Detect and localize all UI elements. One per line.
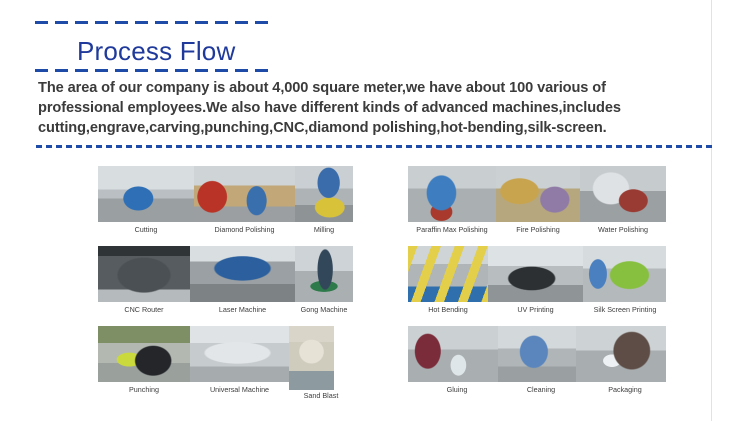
gallery-row-images	[408, 326, 666, 382]
caption-packaging: Packaging	[580, 385, 670, 394]
caption-milling: Milling	[295, 225, 353, 234]
caption-universal-machine: Universal Machine	[190, 385, 289, 394]
laser-machine-photo	[190, 246, 295, 302]
gallery-row-images	[98, 246, 356, 302]
caption-cleaning: Cleaning	[502, 385, 580, 394]
caption-water-polishing: Water Polishing	[580, 225, 666, 234]
thumbnail-gong-machine[interactable]	[295, 246, 353, 302]
section-divider-dotted	[36, 145, 712, 148]
gallery-row-captions: Punching Universal Machine Sand Blast	[98, 382, 356, 398]
caption-sand-blast: Sand Blast	[289, 391, 353, 400]
gallery-right-column: Paraffin Max Polishing Fire Polishing Wa…	[408, 166, 666, 398]
gluing-photo	[408, 326, 498, 382]
slide-root: Process Flow The area of our company is …	[0, 0, 750, 421]
gong-machine-photo	[295, 246, 353, 302]
gallery-row: CNC Router Laser Machine Gong Machine	[98, 246, 356, 318]
caption-paraffin-max-polishing: Paraffin Max Polishing	[402, 225, 502, 234]
thumbnail-silk-screen-printing[interactable]	[583, 246, 666, 302]
thumbnail-packaging[interactable]	[576, 326, 666, 382]
paraffin-max-polishing-photo	[408, 166, 496, 222]
fire-polishing-photo	[496, 166, 580, 222]
thumbnail-hot-bending[interactable]	[408, 246, 488, 302]
sand-blast-photo	[289, 326, 334, 390]
gallery-row-images	[98, 166, 356, 222]
cutting-photo	[98, 166, 194, 222]
right-edge-rule	[711, 0, 712, 421]
caption-laser-machine: Laser Machine	[190, 305, 295, 314]
hot-bending-photo	[408, 246, 488, 302]
thumbnail-uv-printing[interactable]	[488, 246, 583, 302]
gallery-row-images	[98, 326, 356, 382]
water-polishing-photo	[580, 166, 666, 222]
universal-machine-photo	[190, 326, 289, 382]
gallery-row: Punching Universal Machine Sand Blast	[98, 326, 356, 398]
punching-photo	[98, 326, 190, 382]
thumbnail-punching[interactable]	[98, 326, 190, 382]
title-dashed-rule-bottom	[35, 69, 273, 72]
gallery-row-captions: Cutting Diamond Polishing Milling	[98, 222, 356, 238]
gallery-row-captions: Paraffin Max Polishing Fire Polishing Wa…	[408, 222, 666, 238]
gallery-row: Gluing Cleaning Packaging	[408, 326, 666, 398]
description-line-3: cutting,engrave,carving,punching,CNC,dia…	[38, 118, 728, 138]
silk-screen-printing-photo	[583, 246, 666, 302]
gallery-left-column: Cutting Diamond Polishing Milling CNC Ro…	[98, 166, 356, 398]
caption-punching: Punching	[98, 385, 190, 394]
gallery-row: Paraffin Max Polishing Fire Polishing Wa…	[408, 166, 666, 238]
caption-cutting: Cutting	[98, 225, 194, 234]
thumbnail-diamond-polishing[interactable]	[194, 166, 295, 222]
thumbnail-gluing[interactable]	[408, 326, 498, 382]
title-dashed-rule-top	[35, 21, 273, 24]
diamond-polishing-photo	[194, 166, 295, 222]
cnc-router-photo	[98, 246, 190, 302]
thumbnail-sand-blast[interactable]	[289, 326, 334, 390]
uv-printing-photo	[488, 246, 583, 302]
caption-gluing: Gluing	[412, 385, 502, 394]
caption-cnc-router: CNC Router	[98, 305, 190, 314]
page-title: Process Flow	[77, 36, 235, 67]
caption-fire-polishing: Fire Polishing	[496, 225, 580, 234]
thumbnail-fire-polishing[interactable]	[496, 166, 580, 222]
description-line-2: professional employees.We also have diff…	[38, 98, 728, 118]
gallery-row-captions: Hot Bending UV Printing Silk Screen Prin…	[408, 302, 666, 318]
thumbnail-water-polishing[interactable]	[580, 166, 666, 222]
thumbnail-milling[interactable]	[295, 166, 353, 222]
gallery-row: Hot Bending UV Printing Silk Screen Prin…	[408, 246, 666, 318]
thumbnail-paraffin-max-polishing[interactable]	[408, 166, 496, 222]
milling-photo	[295, 166, 353, 222]
packaging-photo	[576, 326, 666, 382]
caption-hot-bending: Hot Bending	[408, 305, 488, 314]
description-line-1: The area of our company is about 4,000 s…	[38, 78, 728, 98]
cleaning-photo	[498, 326, 576, 382]
caption-uv-printing: UV Printing	[488, 305, 583, 314]
description-paragraph: The area of our company is about 4,000 s…	[38, 78, 728, 138]
caption-gong-machine: Gong Machine	[295, 305, 353, 314]
gallery-row-captions: Gluing Cleaning Packaging	[408, 382, 666, 398]
caption-silk-screen-printing: Silk Screen Printing	[579, 305, 671, 314]
thumbnail-universal-machine[interactable]	[190, 326, 289, 382]
thumbnail-cnc-router[interactable]	[98, 246, 190, 302]
caption-diamond-polishing: Diamond Polishing	[194, 225, 295, 234]
thumbnail-cutting[interactable]	[98, 166, 194, 222]
thumbnail-laser-machine[interactable]	[190, 246, 295, 302]
gallery-row-images	[408, 166, 666, 222]
gallery-row-captions: CNC Router Laser Machine Gong Machine	[98, 302, 356, 318]
gallery-row-images	[408, 246, 666, 302]
thumbnail-cleaning[interactable]	[498, 326, 576, 382]
gallery-row: Cutting Diamond Polishing Milling	[98, 166, 356, 238]
